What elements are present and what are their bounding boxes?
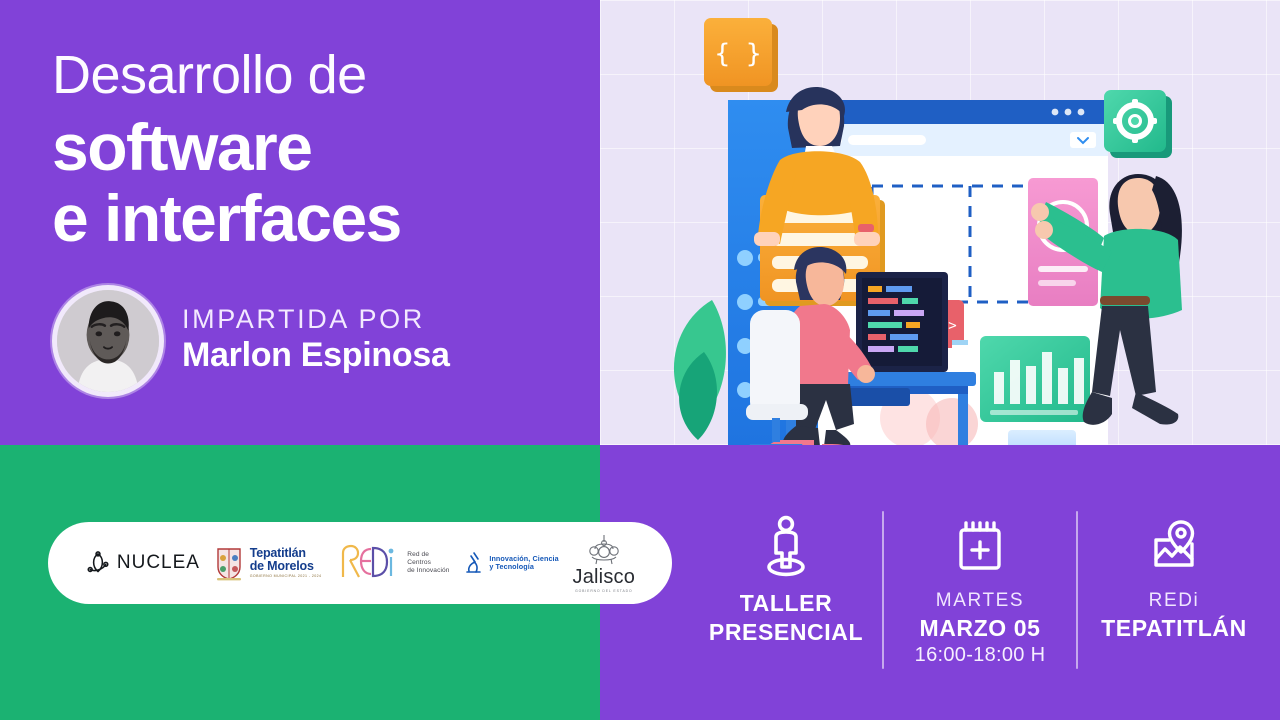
logo-redi: Red de Centros de Innovación [335, 541, 449, 585]
detail-venue-text: REDi TEPATITLÁN [1101, 589, 1247, 642]
event-poster: { } [0, 0, 1280, 720]
gear-card [1104, 90, 1172, 158]
map-pin-icon [1145, 518, 1203, 576]
detail-modality-text: TALLER PRESENCIAL [709, 589, 863, 647]
calendar-icon [953, 518, 1007, 576]
illustration-artwork: { } [600, 0, 1280, 445]
detail-date: MARTES MARZO 05 16:00-18:00 H [884, 505, 1076, 669]
logo-tepatitlan-text: Tepatitlán de Morelos GOBIERNO MUNICIPAL… [250, 547, 322, 579]
detail-date-text: MARTES MARZO 05 16:00-18:00 H [915, 589, 1046, 669]
svg-text:{ }: { } [715, 39, 762, 69]
detail-venue-icon-wrap [1145, 511, 1203, 583]
detail-date-line-1: MARTES [915, 589, 1046, 614]
plant-left [674, 300, 726, 440]
jalisco-crest-icon [584, 533, 624, 567]
speaker-text: IMPARTIDA POR Marlon Espinosa [182, 305, 450, 378]
logo-nuclea: NUCLEA [85, 550, 200, 576]
sponsor-logo-bar: NUCLEA Tepatitlán de Morelos GOBIERNO MU… [48, 522, 672, 604]
detail-venue: REDi TEPATITLÁN [1078, 505, 1270, 642]
illustration-panel: { } [600, 0, 1280, 445]
microscope-icon [463, 550, 483, 576]
logo-innovacion: Innovación, Ciencia y Tecnología [463, 550, 558, 576]
atom-icon [85, 550, 111, 576]
redi-letters-icon [335, 541, 397, 585]
portrait-photo-icon [57, 290, 159, 392]
logo-jalisco-stack: Jalisco GOBIERNO DEL ESTADO [573, 533, 636, 594]
logo-jalisco-wordmark: Jalisco [573, 567, 636, 588]
logo-innovacion-line-2: y Tecnología [489, 563, 558, 571]
detail-venue-line-2: TEPATITLÁN [1101, 614, 1247, 643]
speaker-block: IMPARTIDA POR Marlon Espinosa [52, 285, 450, 397]
avatar [52, 285, 164, 397]
title-line-2: software [52, 112, 582, 183]
logo-tepatitlan-line-2: de Morelos [250, 560, 322, 573]
detail-date-line-3: 16:00-18:00 H [915, 642, 1046, 669]
logo-redi-line-3: de Innovación [407, 567, 449, 575]
detail-modality-icon-wrap [759, 511, 813, 583]
speaker-label: IMPARTIDA POR [182, 305, 450, 335]
detail-date-icon-wrap [953, 511, 1007, 583]
detail-date-line-2: MARZO 05 [915, 614, 1046, 643]
title-line-3: e interfaces [52, 183, 582, 254]
logo-tepatitlan: Tepatitlán de Morelos GOBIERNO MUNICIPAL… [214, 545, 322, 581]
logo-innovacion-text: Innovación, Ciencia y Tecnología [489, 555, 558, 570]
logo-redi-text: Red de Centros de Innovación [407, 551, 449, 575]
detail-modality: TALLER PRESENCIAL [690, 505, 882, 647]
avatar-photo [57, 290, 159, 392]
speaker-name: Marlon Espinosa [182, 336, 450, 375]
title-line-1: Desarrollo de [52, 48, 582, 102]
logo-jalisco-subtitle: GOBIERNO DEL ESTADO [575, 590, 632, 594]
detail-venue-line-1: REDi [1101, 589, 1247, 614]
code-braces-card: { } [704, 18, 778, 92]
person-standing-icon [759, 515, 813, 579]
logo-tepatitlan-line-3: GOBIERNO MUNICIPAL 2021 - 2024 [250, 575, 322, 579]
coat-of-arms-icon [214, 545, 244, 581]
detail-modality-line-1: TALLER [709, 589, 863, 618]
poster-title: Desarrollo de software e interfaces [52, 48, 582, 255]
logo-jalisco: Jalisco GOBIERNO DEL ESTADO [573, 533, 636, 594]
logo-redi-line-1: Red de [407, 551, 449, 559]
logo-nuclea-wordmark: NUCLEA [117, 552, 200, 574]
detail-modality-line-2: PRESENCIAL [709, 618, 863, 647]
event-details-strip: TALLER PRESENCIAL MARTES MARZO 05 16:00-… [690, 505, 1270, 680]
logo-redi-line-2: Centros [407, 559, 449, 567]
